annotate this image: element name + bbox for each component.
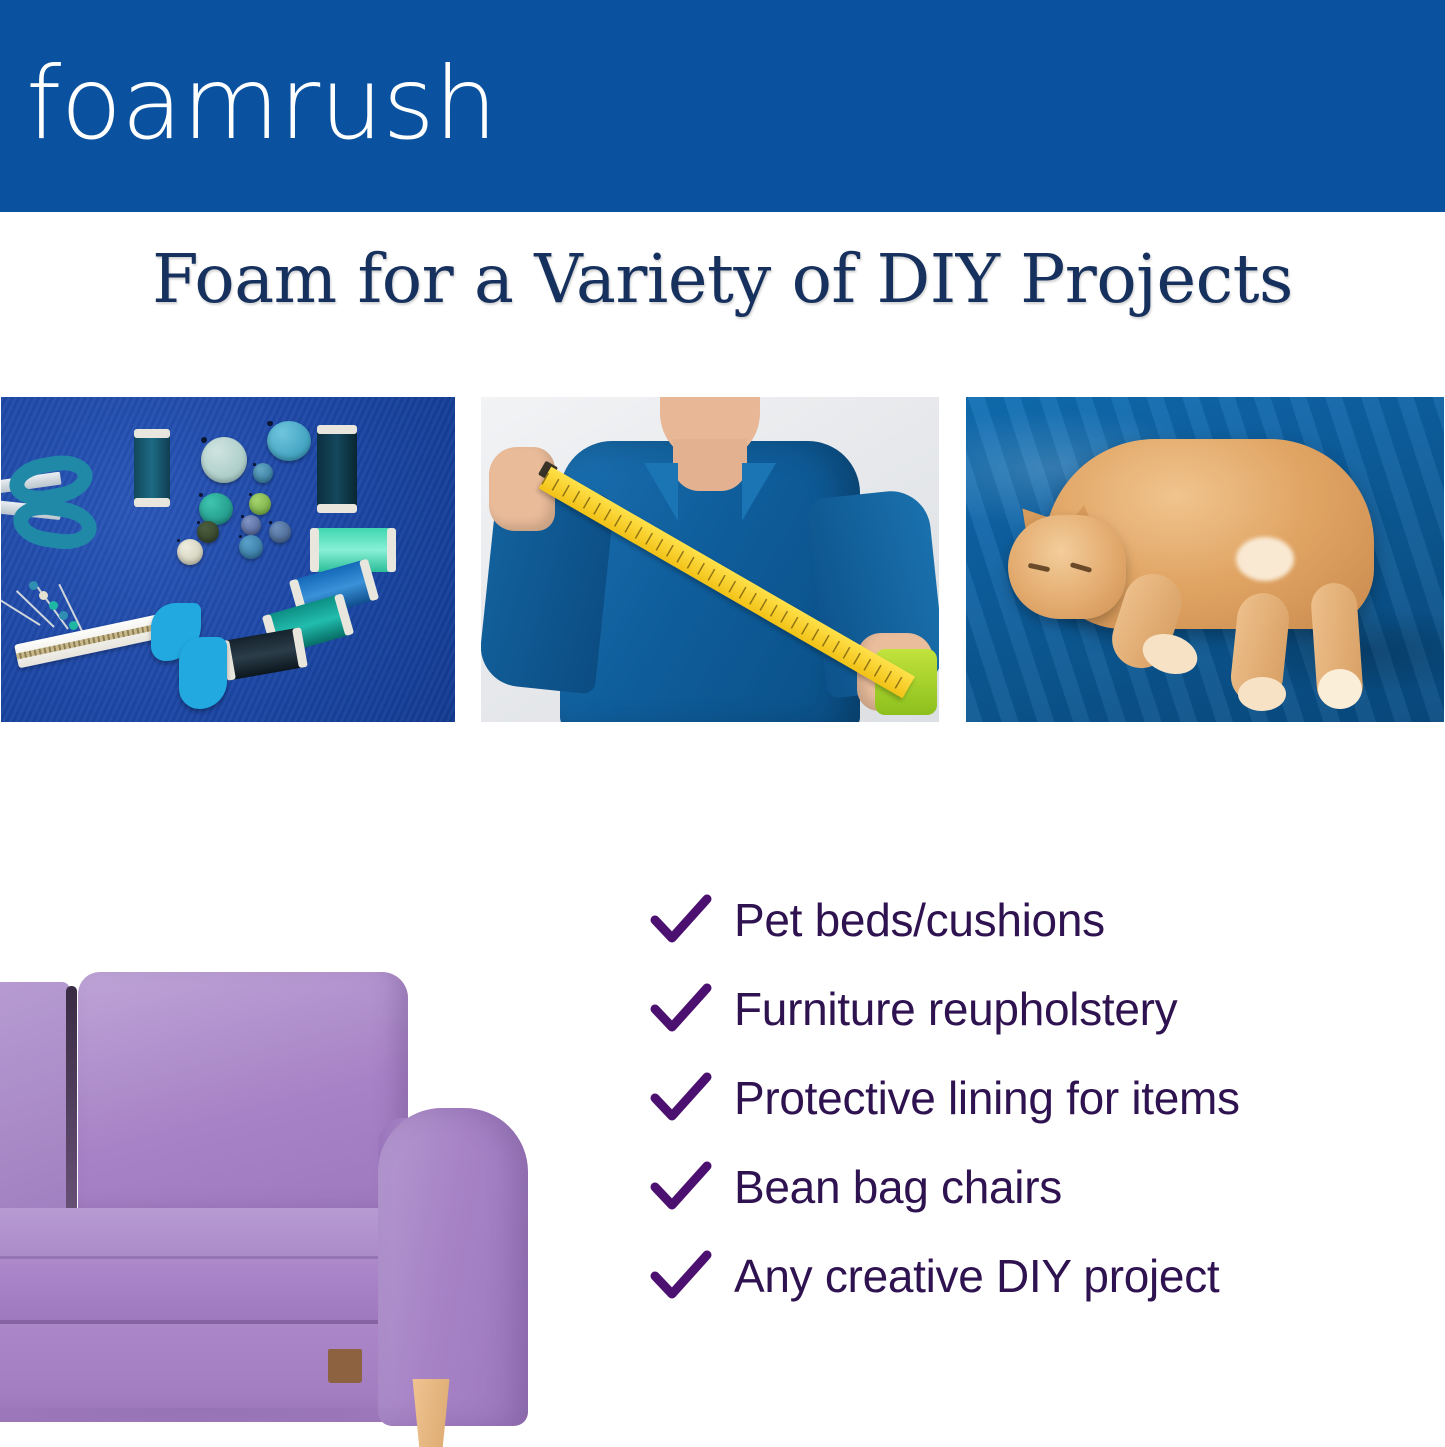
button-icon bbox=[201, 437, 247, 483]
button-icon bbox=[177, 539, 203, 565]
checklist-item: Protective lining for items bbox=[650, 1053, 1410, 1142]
checklist-item: Bean bag chairs bbox=[650, 1142, 1410, 1231]
photo-strip bbox=[0, 396, 1445, 723]
button-icon bbox=[199, 493, 233, 525]
scissors-icon bbox=[0, 455, 148, 553]
checklist-item-label: Pet beds/cushions bbox=[734, 897, 1105, 943]
sofa-back-cushion-right bbox=[78, 972, 408, 1222]
button-icon bbox=[249, 493, 271, 515]
checklist-item: Furniture reupholstery bbox=[650, 964, 1410, 1053]
thread-spool bbox=[317, 425, 357, 513]
sofa-leg-front bbox=[410, 1379, 452, 1447]
check-icon bbox=[650, 1250, 734, 1302]
sofa-illustration bbox=[0, 968, 560, 1445]
button-icon bbox=[267, 421, 311, 461]
person-neck bbox=[673, 439, 747, 491]
tailor-chalk bbox=[179, 637, 227, 709]
sofa-seat-cushion bbox=[0, 1208, 410, 1326]
photo-sewing-supplies bbox=[0, 396, 456, 723]
page-title: Foam for a Variety of DIY Projects bbox=[0, 240, 1445, 318]
cat-head bbox=[1008, 515, 1126, 619]
check-icon bbox=[650, 894, 734, 946]
benefits-checklist: Pet beds/cushions Furniture reupholstery… bbox=[650, 875, 1410, 1320]
checklist-item-label: Any creative DIY project bbox=[734, 1253, 1219, 1299]
checklist-item-label: Furniture reupholstery bbox=[734, 986, 1177, 1032]
cat-paw bbox=[1238, 677, 1286, 711]
check-icon bbox=[650, 1161, 734, 1213]
button-icon bbox=[269, 521, 291, 543]
sofa-back-cushion-left bbox=[0, 982, 70, 1220]
sofa-seam bbox=[0, 1256, 408, 1259]
checklist-item: Any creative DIY project bbox=[650, 1231, 1410, 1320]
sofa-leg-back bbox=[328, 1349, 362, 1383]
photo-cat-beanbag bbox=[965, 396, 1445, 723]
check-icon bbox=[650, 983, 734, 1035]
shirt-collar-right bbox=[742, 463, 776, 521]
sofa-shadow bbox=[0, 1408, 430, 1422]
button-icon bbox=[253, 463, 273, 483]
cat-paw bbox=[1318, 669, 1362, 709]
checklist-item-label: Protective lining for items bbox=[734, 1075, 1240, 1121]
sofa-cushion-gap bbox=[66, 986, 77, 1222]
brand-banner: foamrush bbox=[0, 0, 1445, 212]
button-icon bbox=[241, 515, 261, 535]
check-icon bbox=[650, 1072, 734, 1124]
photo-tape-measure bbox=[480, 396, 940, 723]
thread-spool bbox=[134, 429, 170, 507]
button-icon bbox=[239, 535, 263, 559]
sofa-rolled-arm bbox=[378, 1108, 528, 1426]
cat-belly bbox=[1236, 537, 1294, 581]
checklist-item-label: Bean bag chairs bbox=[734, 1164, 1062, 1210]
button-icon bbox=[197, 521, 219, 543]
brand-logo: foamrush bbox=[0, 54, 497, 154]
shirt-collar-left bbox=[644, 463, 678, 521]
checklist-item: Pet beds/cushions bbox=[650, 875, 1410, 964]
